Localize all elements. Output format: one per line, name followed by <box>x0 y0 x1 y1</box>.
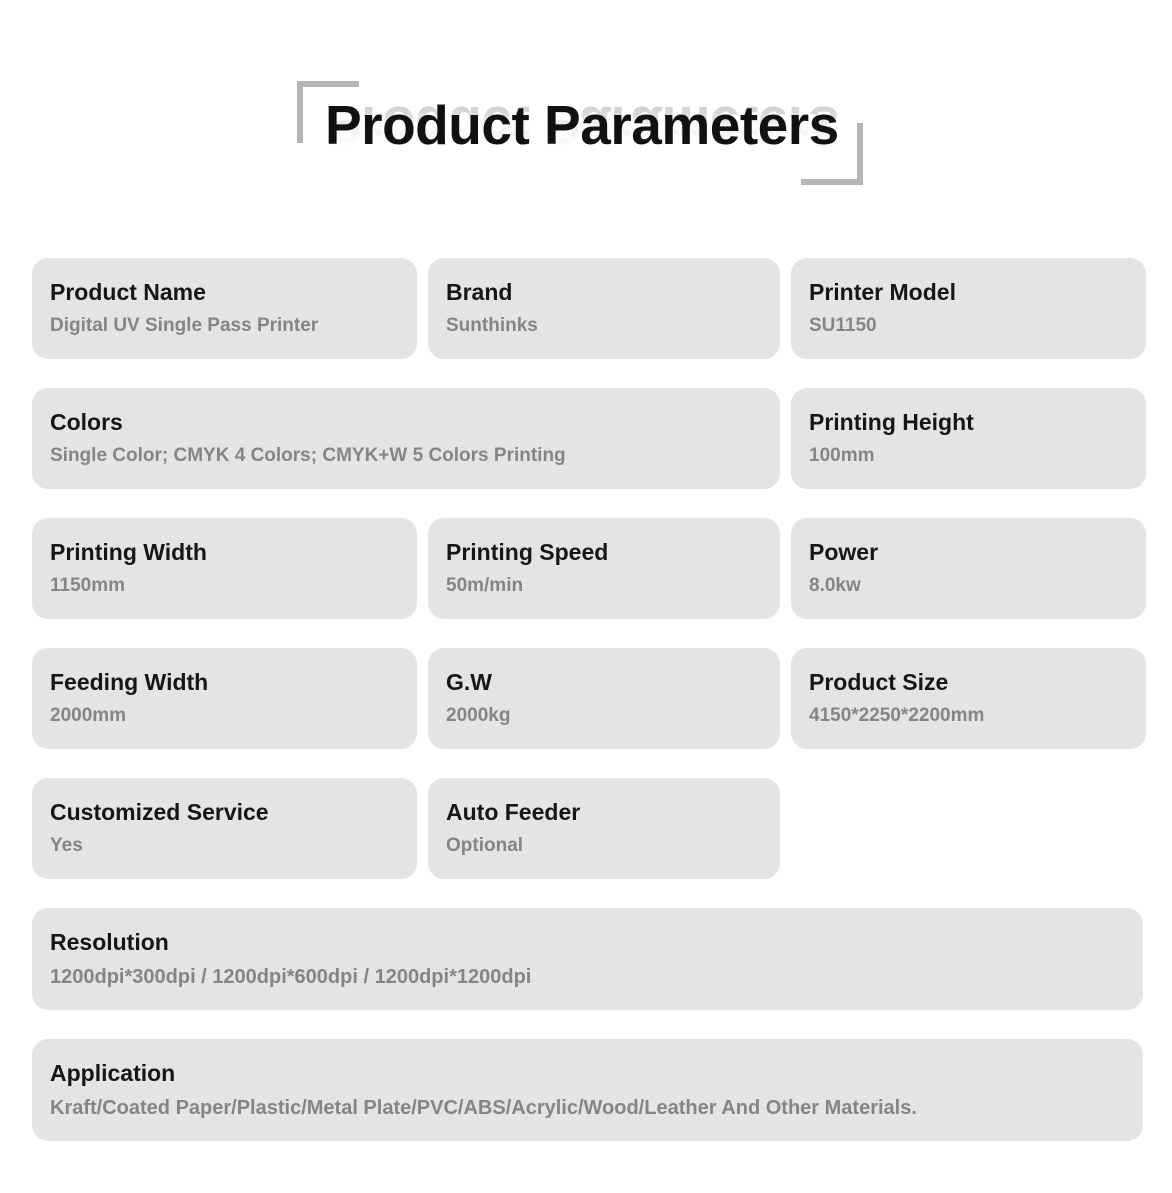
spec-row: Product NameDigital UV Single Pass Print… <box>32 258 1143 359</box>
spec-card: Customized ServiceYes <box>32 778 417 879</box>
spec-row: Customized ServiceYesAuto FeederOptional <box>32 778 1143 879</box>
spec-value: 1200dpi*300dpi / 1200dpi*600dpi / 1200dp… <box>50 964 1125 990</box>
title-frame: Product Parameters Product Parameters <box>297 81 863 185</box>
spec-card: Auto FeederOptional <box>428 778 780 879</box>
spec-label: Printing Width <box>50 538 399 567</box>
spec-value: 4150*2250*2200mm <box>809 704 1128 729</box>
spec-value: Digital UV Single Pass Printer <box>50 314 399 339</box>
page-header: Product Parameters Product Parameters <box>0 0 1172 214</box>
spec-card: Printing Height100mm <box>791 388 1146 489</box>
spec-row: Printing Width1150mmPrinting Speed50m/mi… <box>32 518 1143 619</box>
spec-card: Product NameDigital UV Single Pass Print… <box>32 258 417 359</box>
spec-label: Printer Model <box>809 278 1128 307</box>
spec-label: Colors <box>50 408 762 437</box>
spec-card: G.W2000kg <box>428 648 780 749</box>
spec-card: Printing Width1150mm <box>32 518 417 619</box>
spec-value: 8.0kw <box>809 574 1128 599</box>
spec-label: Power <box>809 538 1128 567</box>
spec-label: Resolution <box>50 928 1125 957</box>
spec-card: ApplicationKraft/Coated Paper/Plastic/Me… <box>32 1039 1143 1141</box>
spec-value: Optional <box>446 834 762 859</box>
product-parameters-page: Product Parameters Product Parameters Pr… <box>0 0 1172 1193</box>
page-title: Product Parameters <box>325 98 839 153</box>
spec-label: Product Size <box>809 668 1128 697</box>
spec-value: Sunthinks <box>446 314 762 339</box>
spec-label: Customized Service <box>50 798 399 827</box>
spec-row: Resolution1200dpi*300dpi / 1200dpi*600dp… <box>32 908 1143 1010</box>
spec-value: 50m/min <box>446 574 762 599</box>
spec-value: 100mm <box>809 444 1128 469</box>
spec-card: Feeding Width2000mm <box>32 648 417 749</box>
spec-label: Printing Height <box>809 408 1128 437</box>
spec-card: Product Size4150*2250*2200mm <box>791 648 1146 749</box>
spec-card: BrandSunthinks <box>428 258 780 359</box>
spec-card: Resolution1200dpi*300dpi / 1200dpi*600dp… <box>32 908 1143 1010</box>
spec-label: Auto Feeder <box>446 798 762 827</box>
spec-card: Printer ModelSU1150 <box>791 258 1146 359</box>
spec-row: ApplicationKraft/Coated Paper/Plastic/Me… <box>32 1039 1143 1141</box>
spec-card: Printing Speed50m/min <box>428 518 780 619</box>
spec-label: Application <box>50 1059 1125 1088</box>
spec-label: Product Name <box>50 278 399 307</box>
spec-row: ColorsSingle Color; CMYK 4 Colors; CMYK+… <box>32 388 1143 489</box>
spec-value: Kraft/Coated Paper/Plastic/Metal Plate/P… <box>50 1095 1125 1121</box>
spec-row: Feeding Width2000mmG.W2000kgProduct Size… <box>32 648 1143 749</box>
spec-card: Power8.0kw <box>791 518 1146 619</box>
spec-value: Single Color; CMYK 4 Colors; CMYK+W 5 Co… <box>50 444 762 469</box>
spec-value: Yes <box>50 834 399 859</box>
spec-table: Product NameDigital UV Single Pass Print… <box>32 258 1143 1141</box>
spec-value: 2000mm <box>50 704 399 729</box>
spec-label: Feeding Width <box>50 668 399 697</box>
spec-value: 1150mm <box>50 574 399 599</box>
spec-label: Printing Speed <box>446 538 762 567</box>
spec-card: ColorsSingle Color; CMYK 4 Colors; CMYK+… <box>32 388 780 489</box>
spec-value: SU1150 <box>809 314 1128 339</box>
spec-label: Brand <box>446 278 762 307</box>
spec-label: G.W <box>446 668 762 697</box>
spec-value: 2000kg <box>446 704 762 729</box>
